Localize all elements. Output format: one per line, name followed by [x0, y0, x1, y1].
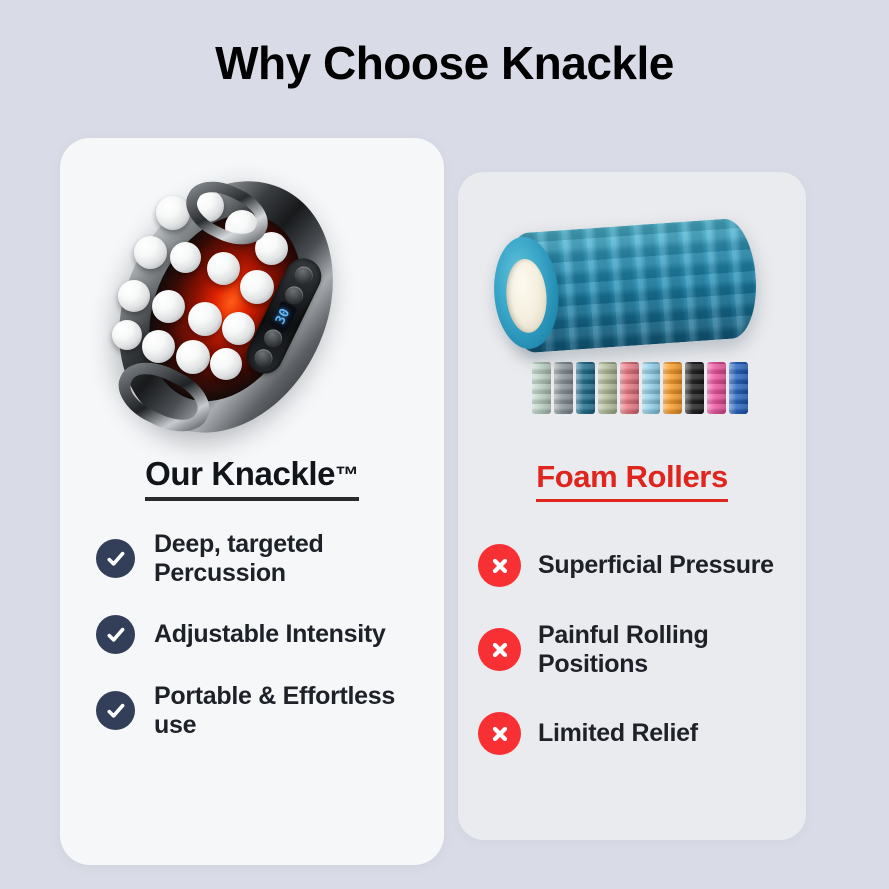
x-circle-icon — [478, 712, 521, 755]
trademark-symbol: ™ — [335, 462, 359, 489]
color-swatch-mint-green[interactable] — [532, 362, 551, 414]
feature-label: Deep, targeted Percussion — [154, 530, 426, 587]
knackle-percussion-massager-image: 30 — [88, 162, 418, 450]
massage-node — [142, 330, 175, 363]
feature-label: Limited Relief — [538, 719, 698, 748]
massage-node — [188, 302, 222, 336]
page-title: Why Choose Knackle — [0, 40, 889, 86]
massage-node — [176, 340, 210, 374]
feature-item: Superficial Pressure — [478, 544, 796, 587]
color-swatch-orange[interactable] — [663, 362, 682, 414]
card-heading-theirs-label: Foam Rollers — [536, 460, 728, 502]
feature-item: Portable & Effortless use — [96, 682, 426, 739]
color-swatch-hot-pink[interactable] — [707, 362, 726, 414]
card-heading-ours-label: Our Knackle™ — [145, 456, 359, 501]
feature-label: Adjustable Intensity — [154, 620, 386, 649]
feature-list-ours: Deep, targeted Percussion Adjustable Int… — [60, 530, 444, 767]
foam-roller-main — [490, 217, 760, 355]
heading-main-text: Our Knackle — [145, 455, 335, 492]
feature-item: Limited Relief — [478, 712, 796, 755]
card-heading-ours: Our Knackle™ — [60, 456, 444, 501]
feature-item: Adjustable Intensity — [96, 615, 426, 654]
color-swatch-dark-teal[interactable] — [576, 362, 595, 414]
feature-label: Portable & Effortless use — [154, 682, 426, 739]
massage-node — [112, 320, 142, 350]
massage-node — [240, 270, 274, 304]
massage-node — [134, 236, 167, 269]
foam-roller-color-swatches — [532, 362, 748, 414]
color-swatch-black[interactable] — [685, 362, 704, 414]
massage-node — [170, 242, 201, 273]
textured-foam-roller-image — [486, 200, 782, 430]
check-circle-icon — [96, 615, 135, 654]
feature-item: Deep, targeted Percussion — [96, 530, 426, 587]
feature-label: Superficial Pressure — [538, 551, 774, 580]
massage-node — [207, 252, 240, 285]
comparison-card-theirs: Foam Rollers Superficial Pressure Painfu… — [458, 172, 806, 840]
massage-node — [118, 280, 150, 312]
comparison-card-ours: 30 Our Knackle™ Deep, targeted Percussio… — [60, 138, 444, 865]
control-panel-button[interactable] — [251, 346, 275, 370]
massage-node — [222, 312, 255, 345]
massage-node — [210, 348, 242, 380]
card-heading-theirs: Foam Rollers — [458, 460, 806, 502]
x-circle-icon — [478, 628, 521, 671]
control-panel-button[interactable] — [292, 264, 316, 288]
feature-list-theirs: Superficial Pressure Painful Rolling Pos… — [458, 544, 806, 789]
feature-item: Painful Rolling Positions — [478, 621, 796, 678]
color-swatch-light-blue[interactable] — [642, 362, 661, 414]
check-circle-icon — [96, 539, 135, 578]
color-swatch-blue[interactable] — [729, 362, 748, 414]
foam-roller-hollow-core — [504, 258, 549, 335]
check-circle-icon — [96, 691, 135, 730]
color-swatch-salmon-pink[interactable] — [620, 362, 639, 414]
color-swatch-gray[interactable] — [554, 362, 573, 414]
color-swatch-sage-green[interactable] — [598, 362, 617, 414]
x-circle-icon — [478, 544, 521, 587]
feature-label: Painful Rolling Positions — [538, 621, 796, 678]
massage-node — [152, 290, 185, 323]
